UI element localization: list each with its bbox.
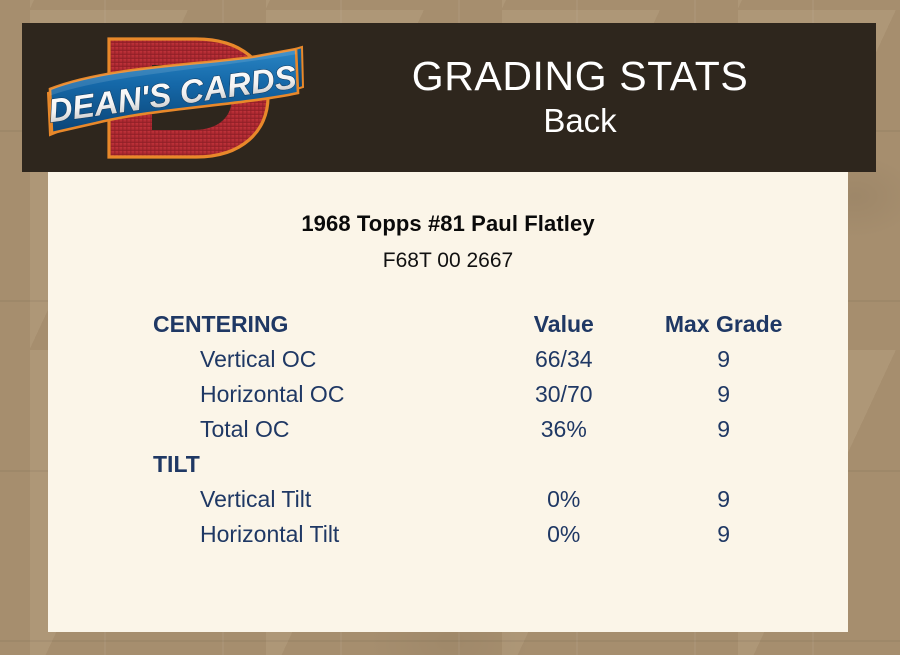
table-header-row: CENTERING Value Max Grade xyxy=(48,307,848,342)
row-max-grade: 9 xyxy=(643,517,804,552)
row-value: 0% xyxy=(484,482,643,517)
table-row: Vertical OC 66/34 9 xyxy=(48,342,848,377)
row-label: Horizontal OC xyxy=(48,377,484,412)
page-title: GRADING STATS xyxy=(314,54,846,98)
card-title: 1968 Topps #81 Paul Flatley xyxy=(48,211,848,237)
section-header-tilt: TILT xyxy=(48,447,484,482)
table-row: Horizontal Tilt 0% 9 xyxy=(48,517,848,552)
column-header-max-grade: Max Grade xyxy=(643,307,804,342)
section-spacer xyxy=(643,447,804,482)
deans-cards-logo[interactable]: DEAN'S CARDS xyxy=(46,31,304,165)
row-value: 30/70 xyxy=(484,377,643,412)
row-label: Vertical Tilt xyxy=(48,482,484,517)
row-value: 66/34 xyxy=(484,342,643,377)
table-row: Total OC 36% 9 xyxy=(48,412,848,447)
row-value: 0% xyxy=(484,517,643,552)
section-spacer xyxy=(484,447,643,482)
table-pad-cell xyxy=(804,377,848,412)
table-row: Vertical Tilt 0% 9 xyxy=(48,482,848,517)
table-pad-cell xyxy=(804,482,848,517)
row-max-grade: 9 xyxy=(643,412,804,447)
section-header-row: TILT xyxy=(48,447,848,482)
table-pad-cell xyxy=(804,447,848,482)
row-label: Total OC xyxy=(48,412,484,447)
table-pad-cell xyxy=(804,412,848,447)
row-max-grade: 9 xyxy=(643,377,804,412)
table-pad-cell xyxy=(804,307,848,342)
section-header-centering: CENTERING xyxy=(48,307,484,342)
table-pad-cell xyxy=(804,342,848,377)
table-row: Horizontal OC 30/70 9 xyxy=(48,377,848,412)
table-pad-cell xyxy=(804,517,848,552)
deans-cards-logo-icon: DEAN'S CARDS xyxy=(46,31,304,165)
content-panel: 1968 Topps #81 Paul Flatley F68T 00 2667… xyxy=(48,172,848,632)
header-bar: DEAN'S CARDS GRADING STATS Back xyxy=(22,23,876,172)
card-id: F68T 00 2667 xyxy=(48,249,848,273)
page-subtitle: Back xyxy=(314,100,846,141)
row-max-grade: 9 xyxy=(643,482,804,517)
header-titles: GRADING STATS Back xyxy=(304,54,876,142)
row-label: Horizontal Tilt xyxy=(48,517,484,552)
row-max-grade: 9 xyxy=(643,342,804,377)
row-label: Vertical OC xyxy=(48,342,484,377)
grading-stats-table: CENTERING Value Max Grade Vertical OC 66… xyxy=(48,307,848,552)
page-root: DEAN'S CARDS GRADING STATS Back 1968 Top… xyxy=(0,0,900,655)
column-header-value: Value xyxy=(484,307,643,342)
row-value: 36% xyxy=(484,412,643,447)
